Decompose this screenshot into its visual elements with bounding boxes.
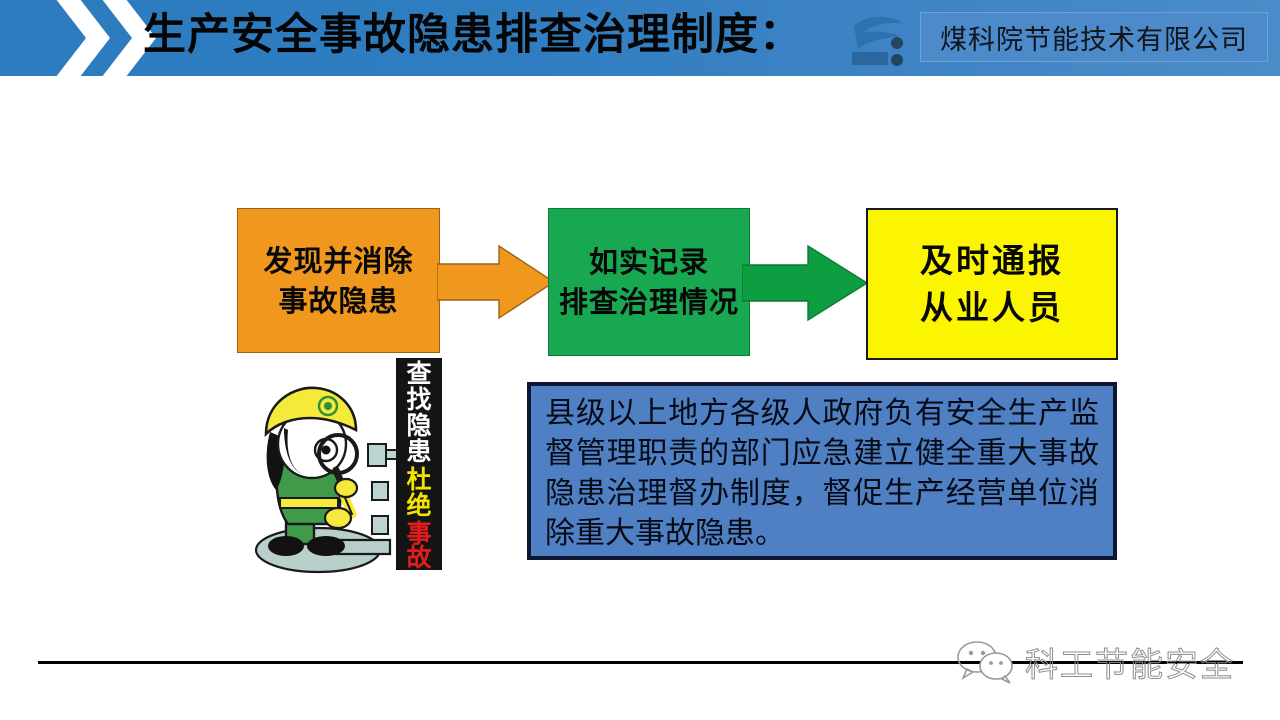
flow-step-notify-staff: 及时通报 从业人员 <box>866 208 1118 360</box>
company-name-label: 煤科院节能技术有限公司 <box>940 18 1248 57</box>
header-banner: 生产安全事故隐患排查治理制度： 煤科院节能技术有限公司 <box>0 0 1280 76</box>
slide-canvas: 生产安全事故隐患排查治理制度： 煤科院节能技术有限公司 发现并消除 事故隐患 如… <box>0 0 1280 720</box>
footer-watermark-label: 科工节能安全 <box>1025 638 1235 686</box>
svg-text:杜: 杜 <box>406 465 431 494</box>
regulation-callout-text: 县级以上地方各级人政府负有安全生产监督管理职责的部门应急建立健全重大事故隐患治理… <box>545 394 1099 554</box>
company-name-box: 煤科院节能技术有限公司 <box>920 12 1268 62</box>
wechat-icon <box>955 640 1017 684</box>
company-logo-icon <box>848 12 918 70</box>
flow-step-line-1: 及时通报 <box>920 237 1064 284</box>
flow-step-line-1: 如实记录 <box>589 242 709 282</box>
regulation-callout-box: 县级以上地方各级人政府负有安全生产监督管理职责的部门应急建立健全重大事故隐患治理… <box>527 382 1117 560</box>
svg-text:查: 查 <box>406 359 431 388</box>
flow-step-record-truthfully: 如实记录 排查治理情况 <box>548 208 750 356</box>
svg-text:绝: 绝 <box>406 491 431 520</box>
flow-arrow-green-icon <box>742 240 868 326</box>
svg-text:故: 故 <box>406 543 432 572</box>
svg-text:隐: 隐 <box>406 411 431 440</box>
page-title: 生产安全事故隐患排查治理制度： <box>143 4 803 66</box>
flow-arrow-orange-icon <box>437 240 555 324</box>
svg-text:找: 找 <box>406 385 431 414</box>
flow-step-line-1: 发现并消除 <box>263 241 413 281</box>
flow-step-discover-eliminate: 发现并消除 事故隐患 <box>237 208 440 353</box>
flow-step-line-2: 从业人员 <box>920 284 1064 331</box>
safety-inspector-cartoon-icon: 查 找 隐 患 杜 绝 事 故 <box>240 358 460 580</box>
svg-text:患: 患 <box>406 437 431 466</box>
flow-step-line-2: 排查治理情况 <box>559 282 739 322</box>
footer-watermark: 科工节能安全 <box>955 634 1255 690</box>
flow-step-line-2: 事故隐患 <box>278 281 398 321</box>
